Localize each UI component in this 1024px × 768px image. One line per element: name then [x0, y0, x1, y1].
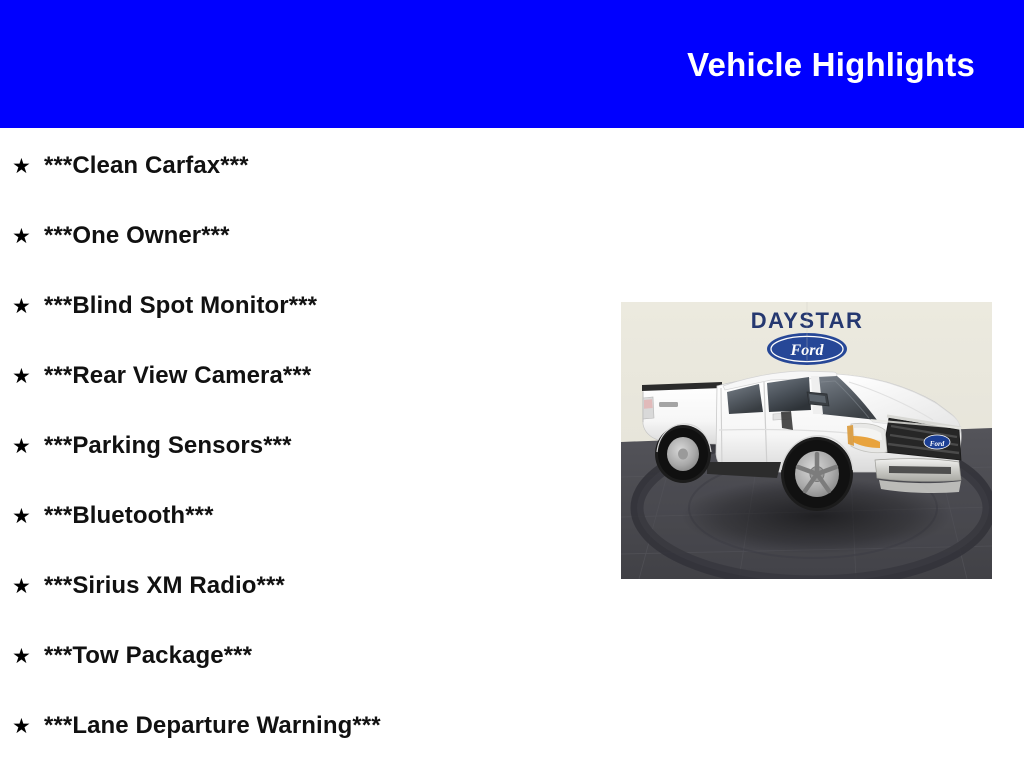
list-item-label: ***Bluetooth*** [44, 502, 214, 530]
list-item: ★ ***Clean Carfax*** [0, 131, 600, 201]
list-item-label: ***One Owner*** [44, 222, 230, 250]
star-icon: ★ [12, 645, 32, 667]
list-item-label: ***Blind Spot Monitor*** [44, 292, 317, 320]
list-item: ★ ***Rear View Camera*** [0, 341, 600, 411]
list-item-label: ***Lane Departure Warning*** [44, 712, 381, 740]
vehicle-photo: DAYSTAR Ford [621, 302, 992, 579]
star-icon: ★ [12, 295, 32, 317]
list-item: ★ ***Parking Sensors*** [0, 411, 600, 481]
rear-wheel [655, 425, 711, 483]
star-icon: ★ [12, 505, 32, 527]
list-item: ★ ***Sirius XM Radio*** [0, 551, 600, 621]
svg-text:Ford: Ford [930, 440, 945, 448]
list-item-label: ***Tow Package*** [44, 642, 252, 670]
list-item-label: ***Clean Carfax*** [44, 152, 249, 180]
list-item-label: ***Rear View Camera*** [44, 362, 311, 390]
list-item: ★ ***Lane Departure Warning*** [0, 691, 600, 761]
star-icon: ★ [12, 225, 32, 247]
star-icon: ★ [12, 575, 32, 597]
star-icon: ★ [12, 715, 32, 737]
list-item: ★ ***Bluetooth*** [0, 481, 600, 551]
star-icon: ★ [12, 155, 32, 177]
star-icon: ★ [12, 435, 32, 457]
vehicle-highlights-list: ★ ***Clean Carfax*** ★ ***One Owner*** ★… [0, 131, 600, 761]
list-item: ★ ***Blind Spot Monitor*** [0, 271, 600, 341]
list-item: ★ ***Tow Package*** [0, 621, 600, 691]
vehicle-photo-image: DAYSTAR Ford [621, 302, 992, 579]
list-item-label: ***Parking Sensors*** [44, 432, 292, 460]
list-item-label: ***Sirius XM Radio*** [44, 572, 285, 600]
list-item: ★ ***One Owner*** [0, 201, 600, 271]
page-title: Vehicle Highlights [687, 45, 975, 85]
header-banner: Vehicle Highlights [0, 0, 1024, 128]
star-icon: ★ [12, 365, 32, 387]
